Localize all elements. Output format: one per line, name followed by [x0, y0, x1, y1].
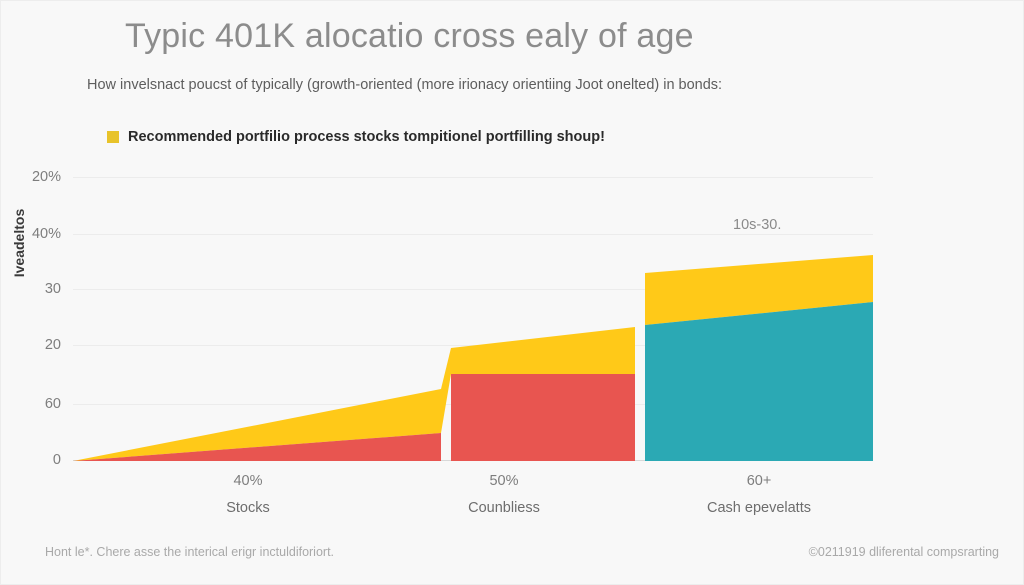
y-tick-5: 0: [9, 452, 61, 468]
y-tick-3: 20: [9, 337, 61, 353]
area-teal-segment-3: [645, 302, 873, 461]
x-group-0: 40% Stocks: [128, 467, 368, 521]
area-red-segment-2: [451, 374, 635, 461]
page-title: Typic 401K alocatio cross ealy of age: [125, 17, 694, 56]
y-tick-0: 20%: [9, 169, 61, 185]
y-tick-4: 60: [9, 396, 61, 412]
legend-item-label: Recommended portfilio process stocks tom…: [128, 129, 605, 145]
x-group-0-name: Stocks: [128, 495, 368, 521]
footer-note-right: ©0211919 dliferental compsrarting: [809, 545, 999, 559]
x-group-2-value: 60+: [639, 467, 879, 495]
chart-card: Typic 401K alocatio cross ealy of age Ho…: [0, 0, 1024, 585]
footer-note-left: Hont le*. Chere asse the interical erigr…: [45, 545, 334, 559]
chart-legend: Recommended portfilio process stocks tom…: [107, 129, 605, 145]
area-series-group: [73, 167, 873, 461]
chart-subtitle: How invelsnact poucst of typically (grow…: [87, 77, 722, 93]
plot-area: [73, 167, 873, 461]
x-group-1-value: 50%: [384, 467, 624, 495]
y-tick-2: 30: [9, 281, 61, 297]
annotation-third-segment: 10s-30.: [733, 217, 781, 233]
area-yellow-segment-2-riser: [441, 348, 451, 433]
area-yellow-segment-2: [451, 327, 635, 374]
x-group-1-name: Counbliess: [384, 495, 624, 521]
x-group-2: 60+ Cash epevelatts: [639, 467, 879, 521]
x-group-2-name: Cash epevelatts: [639, 495, 879, 521]
legend-swatch-recommended: [107, 131, 119, 143]
y-tick-1: 40%: [9, 226, 61, 242]
x-group-0-value: 40%: [128, 467, 368, 495]
x-group-1: 50% Counbliess: [384, 467, 624, 521]
